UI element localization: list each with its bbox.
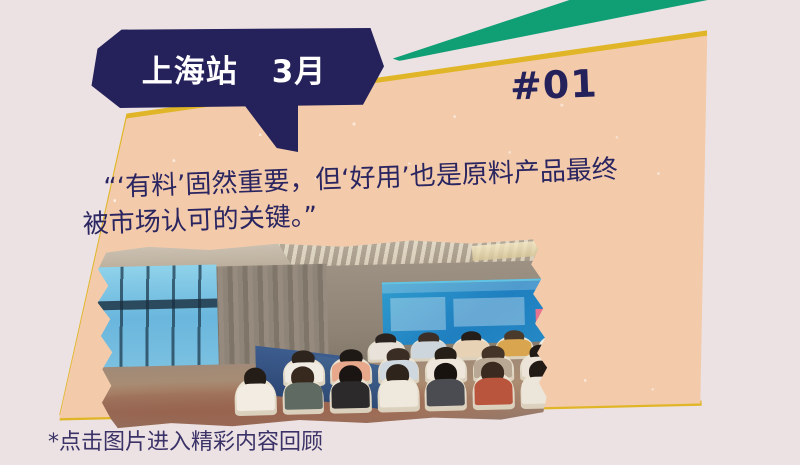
speech-bubble-tail [242,102,298,152]
city-label: 上海站 [142,46,238,91]
poster-canvas: #01 “‘有料’固然重要，但‘好用’也是原料产品最终 被市场认可的关键。” 上… [0,0,800,465]
photo-screen-panel-center [453,297,525,327]
speech-bubble-label-group: 上海站 3月 [84,28,384,108]
photo-screen-panel-left [390,297,446,332]
city-speech-bubble[interactable]: 上海站 3月 [84,28,384,152]
issue-number-badge: #01 [509,61,598,108]
photo-caption: *点击图片进入精彩内容回顾 [48,424,323,456]
month-label: 3月 [272,46,327,91]
